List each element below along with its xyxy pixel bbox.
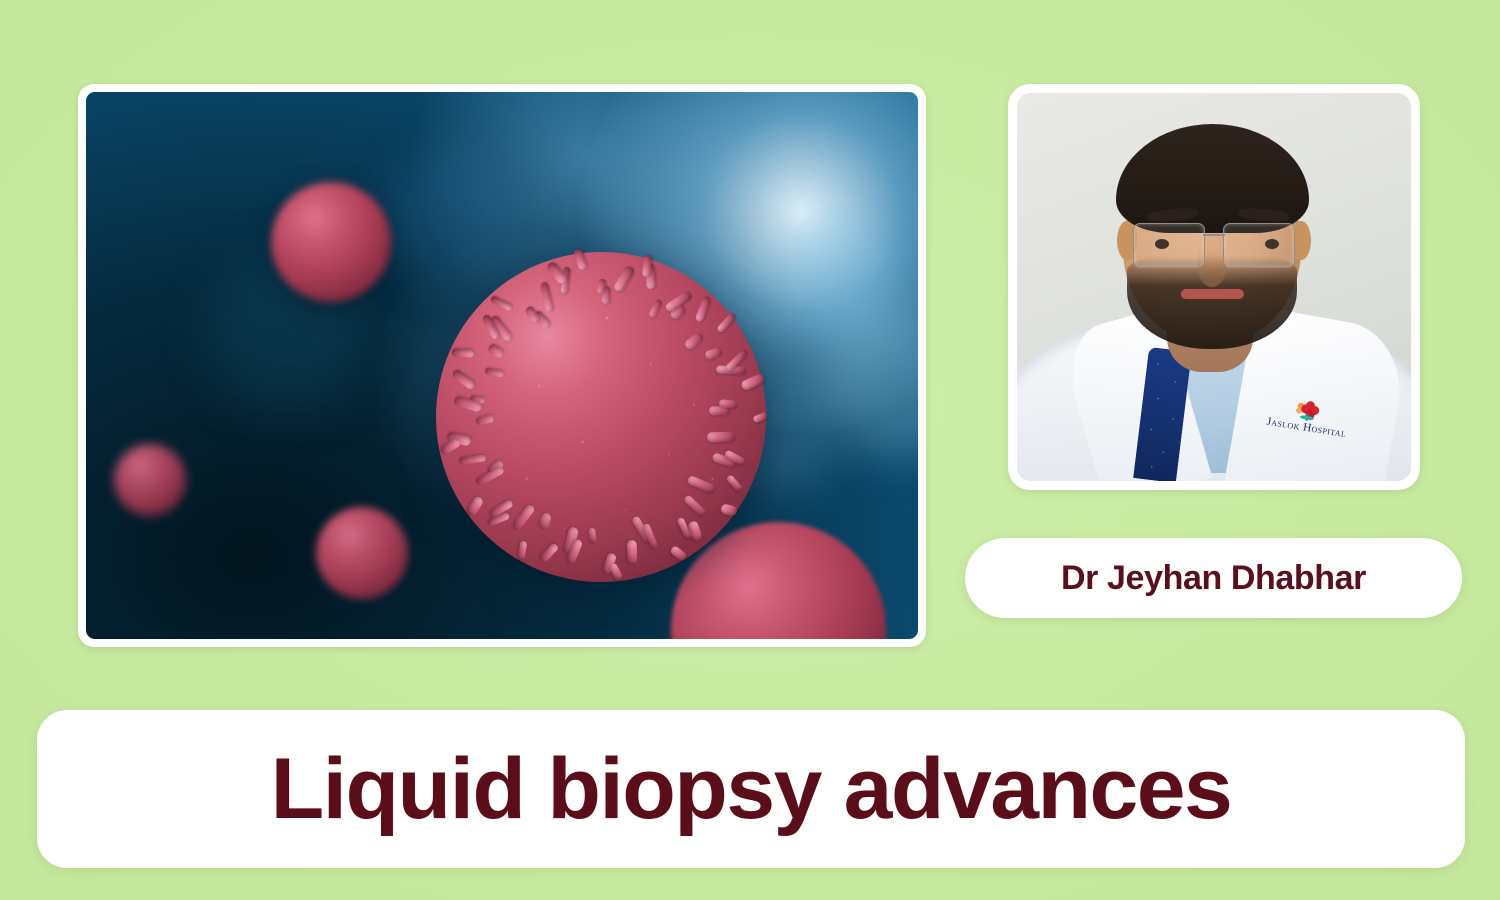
primary-cancer-cell — [436, 252, 766, 582]
cell-villus — [452, 348, 474, 357]
page-title: Liquid biopsy advances — [271, 746, 1232, 832]
cancer-cells-illustration — [86, 92, 918, 639]
background-cell-left — [114, 444, 186, 516]
mouth — [1181, 289, 1244, 299]
doctor-name-label: Dr Jeyhan Dhabhar — [1061, 559, 1366, 598]
bokeh-blur-2 — [821, 307, 918, 457]
background-cell-lower-left — [316, 507, 408, 599]
doctor-portrait: Jaslok Hospital — [1017, 93, 1411, 481]
doctor-name-card: Dr Jeyhan Dhabhar — [965, 538, 1462, 618]
cell-villus — [626, 539, 637, 563]
background-cell-top-left — [271, 182, 391, 302]
hero-image-card — [78, 84, 926, 647]
bokeh-blur-1 — [776, 212, 896, 332]
doctor-portrait-card: Jaslok Hospital — [1008, 84, 1420, 490]
flower-icon — [1295, 399, 1324, 423]
bokeh-blur-4 — [386, 152, 516, 282]
cell-villus — [707, 432, 735, 443]
headline-card: Liquid biopsy advances — [37, 710, 1465, 868]
nose — [1198, 248, 1226, 287]
article-card-graphic: Jaslok Hospital Dr Jeyhan Dhabhar Liquid… — [0, 0, 1500, 900]
